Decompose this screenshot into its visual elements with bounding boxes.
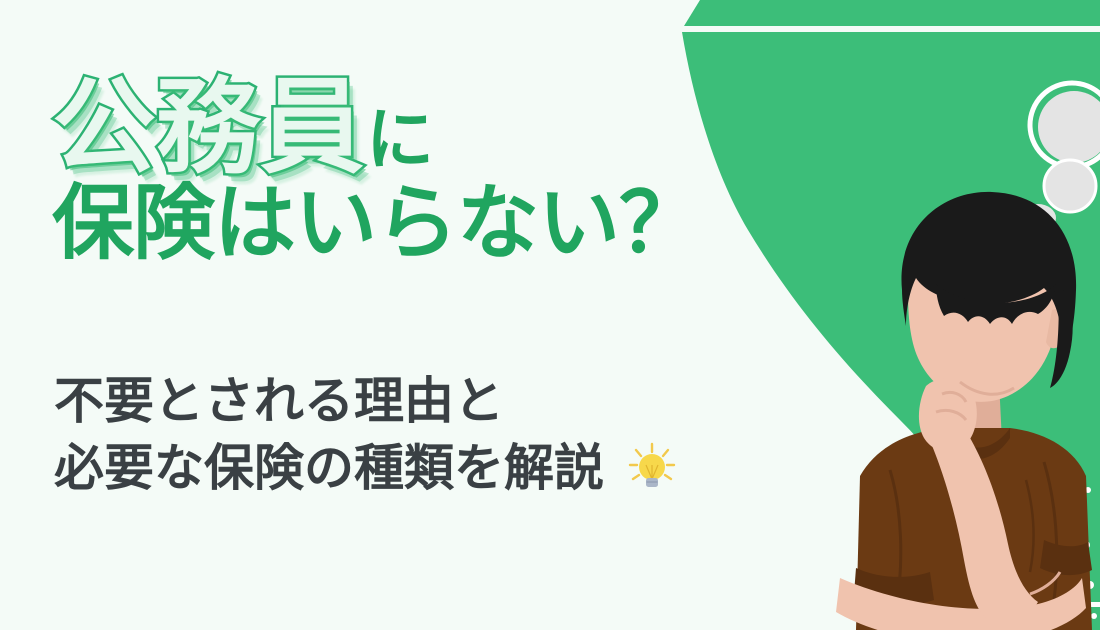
- thinking-man-illustration: [830, 180, 1100, 630]
- headline-emphasis: 公務員: [52, 70, 364, 186]
- headline-line-1: 公務員に: [52, 72, 842, 184]
- subtitle-line-2: 必要な保険の種類を解説: [54, 440, 604, 496]
- banner-canvas: 公務員に 保険はいらない？ 不要とされる理由と 必要な保険の種類を解説: [0, 0, 1100, 630]
- subtitle-line-1: 不要とされる理由と: [54, 368, 854, 435]
- headline-line-2: 保険はいらない？: [52, 180, 842, 269]
- headline-suffix: に: [366, 102, 434, 178]
- green-top-strip: [684, 0, 1100, 26]
- bubble-large-ring: [1030, 83, 1100, 167]
- headline-block: 公務員に 保険はいらない？: [52, 72, 842, 269]
- lightbulb-icon: [626, 441, 678, 510]
- subtitle-line-2-row: 必要な保険の種類を解説: [54, 435, 854, 510]
- subtitle-block: 不要とされる理由と 必要な保険の種類を解説: [54, 368, 854, 510]
